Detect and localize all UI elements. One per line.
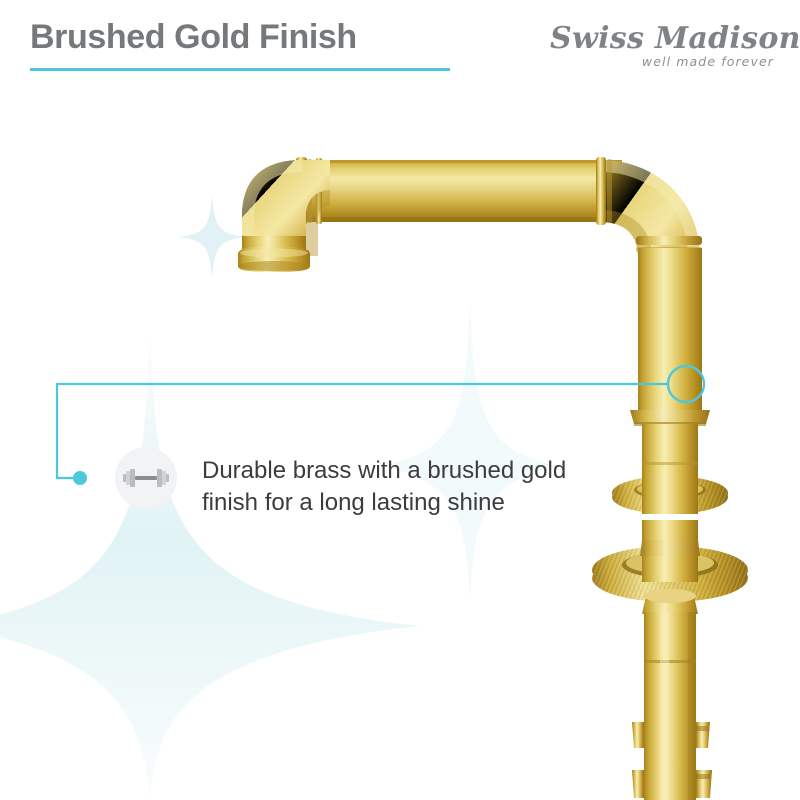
column-flange <box>630 410 710 426</box>
brand-logo: Swiss Madison® well made forever <box>550 20 778 74</box>
faucet-vertical-column <box>630 248 710 484</box>
feature-icon-badge <box>115 447 177 509</box>
faucet-spout-arm <box>296 157 622 225</box>
knurled-ring-upper <box>612 462 728 514</box>
dumbbell-icon <box>123 465 169 491</box>
product-image-faucet <box>0 0 800 800</box>
feature-description-line-1: Durable brass with a brushed gold <box>202 455 622 487</box>
feature-description-line-2: finish for a long lasting shine <box>202 487 622 519</box>
feature-description: Durable brass with a brushed gold finish… <box>202 455 622 519</box>
brand-name-text: Swiss Madison <box>550 21 800 56</box>
faucet-lower-body <box>632 589 712 800</box>
spout-collar-right <box>596 157 612 225</box>
brand-name: Swiss Madison® <box>550 20 778 54</box>
brand-tagline: well made forever <box>550 55 774 69</box>
product-feature-card: Brushed Gold Finish Swiss Madison® well … <box>0 0 800 800</box>
title-underline <box>30 68 450 71</box>
spout-outlet-lip <box>238 247 310 272</box>
page-title: Brushed Gold Finish <box>30 18 357 57</box>
faucet-outlet-elbow <box>238 160 330 272</box>
